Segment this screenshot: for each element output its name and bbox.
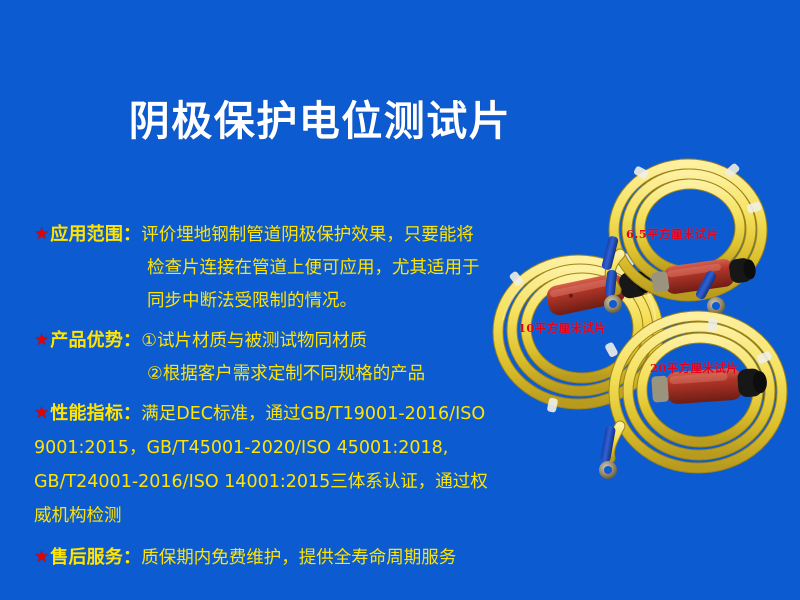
bullet-first-line: ★售后服务：质保期内免费维护，提供全寿命周期服务 <box>34 541 514 575</box>
star-icon: ★ <box>34 403 49 423</box>
bullet-line-text: 威机构检测 <box>34 499 514 533</box>
slide-canvas: 阴极保护电位测试片 ★应用范围：评价埋地钢制管道阴极保护效果，只要能将 检查片连… <box>0 0 800 600</box>
bullet-label: 售后服务： <box>50 547 141 568</box>
bullet-label: 产品优势： <box>50 330 141 351</box>
star-icon: ★ <box>34 330 49 350</box>
star-icon: ★ <box>34 224 49 244</box>
bullet-list: ★应用范围：评价埋地钢制管道阴极保护效果，只要能将 检查片连接在管道上便可应用，… <box>34 218 514 577</box>
photo-caption-65: 6.5平方厘米试片 <box>626 226 719 242</box>
photo-caption-20: 20平方厘米试片 <box>650 360 738 376</box>
bullet-line-text: 同步中断法受限制的情况。 <box>34 285 514 318</box>
bullet-line-text: ②根据客户需求定制不同规格的产品 <box>34 358 514 391</box>
bullet-line-text: 质保期内免费维护，提供全寿命周期服务 <box>141 548 456 568</box>
bullet-label: 性能指标： <box>50 403 141 424</box>
bullet-line-text: 9001:2015，GB/T45001-2020/ISO 45001:2018, <box>34 431 514 465</box>
bullet-line-text: 评价埋地钢制管道阴极保护效果，只要能将 <box>141 225 474 245</box>
photo-caption-10: 10平方厘米试片 <box>518 320 606 336</box>
bullet-application-scope: ★应用范围：评价埋地钢制管道阴极保护效果，只要能将 检查片连接在管道上便可应用，… <box>34 218 514 318</box>
bullet-product-advantages: ★产品优势：①试片材质与被测试物同材质 ②根据客户需求定制不同规格的产品 <box>34 324 514 391</box>
product-photo: 6.5平方厘米试片 10平方厘米试片 20平方厘米试片 <box>492 158 800 492</box>
bullet-line-text: GB/T24001-2016/ISO 14001:2015三体系认证，通过权 <box>34 465 514 499</box>
bullet-line-text: ①试片材质与被测试物同材质 <box>141 331 367 351</box>
bullet-label: 应用范围： <box>50 224 141 245</box>
bullet-performance-specs: ★性能指标：满足DEC标准，通过GB/T19001-2016/ISO 9001:… <box>34 397 514 533</box>
bullet-after-sales-service: ★售后服务：质保期内免费维护，提供全寿命周期服务 <box>34 541 514 575</box>
bullet-line-text: 满足DEC标准，通过GB/T19001-2016/ISO <box>141 404 485 424</box>
bullet-first-line: ★产品优势：①试片材质与被测试物同材质 <box>34 324 514 358</box>
bullet-line-text: 检查片连接在管道上便可应用，尤其适用于 <box>34 252 514 285</box>
bullet-first-line: ★性能指标：满足DEC标准，通过GB/T19001-2016/ISO <box>34 397 514 431</box>
page-title: 阴极保护电位测试片 <box>0 96 640 146</box>
bullet-first-line: ★应用范围：评价埋地钢制管道阴极保护效果，只要能将 <box>34 218 514 252</box>
star-icon: ★ <box>34 547 49 567</box>
